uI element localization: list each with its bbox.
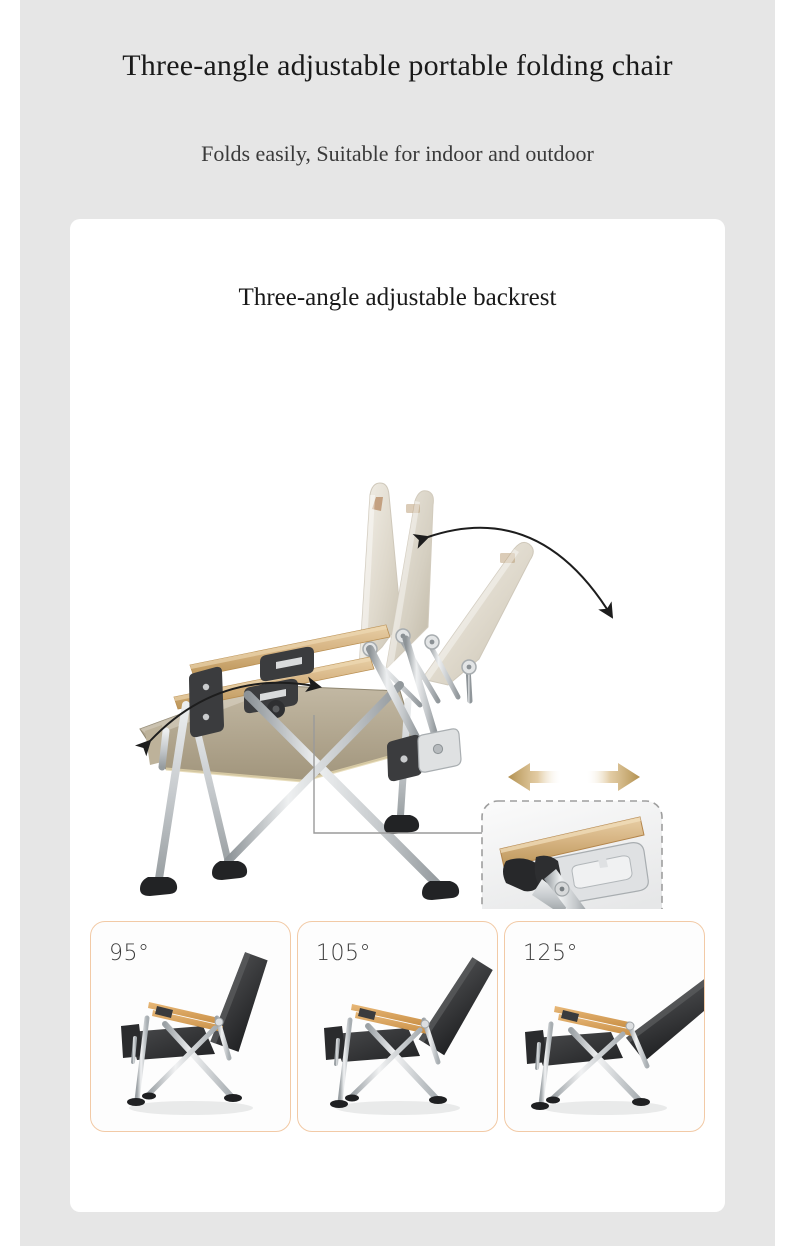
- angle-card-95[interactable]: 95°: [90, 921, 291, 1132]
- section-title: Three-angle adjustable backrest: [70, 281, 725, 315]
- content-card: Three-angle adjustable backrest: [70, 219, 725, 1212]
- angle-card-105[interactable]: 105°: [297, 921, 498, 1132]
- product-page: Three-angle adjustable portable folding …: [0, 0, 790, 1246]
- angle-card-125[interactable]: 125°: [504, 921, 705, 1132]
- armrest-slide-arrow-left: [508, 763, 562, 791]
- angle-label-125: 125°: [523, 941, 578, 966]
- angle-label-95: 95°: [109, 941, 150, 966]
- page-subtitle: Folds easily, Suitable for indoor and ou…: [20, 139, 775, 169]
- page-header: Three-angle adjustable portable folding …: [20, 0, 775, 219]
- armrest-bracket-detail: [482, 801, 662, 909]
- angle-card-row: 95°: [90, 921, 705, 1131]
- page-title: Three-angle adjustable portable folding …: [20, 46, 775, 86]
- armrest-slide-arrow-right: [586, 763, 640, 791]
- hero-illustration: [70, 349, 725, 909]
- angle-label-105: 105°: [316, 941, 371, 966]
